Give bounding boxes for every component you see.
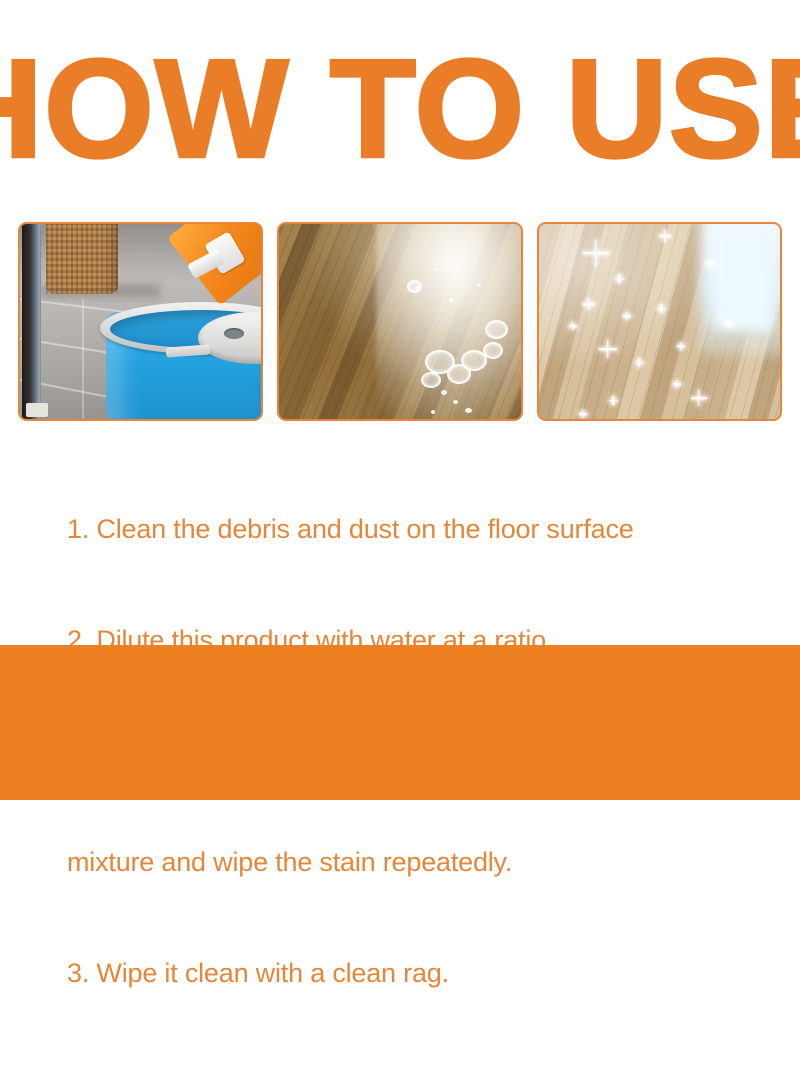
instruction-line-1: 1. Clean the debris and dust on the floo… [67,511,767,548]
spinner-drain-hole [224,328,244,339]
sparkle-icon [615,274,624,283]
sparkle-icon [691,390,707,406]
gallery-panel-1[interactable] [18,222,263,421]
tile-grout-line [82,298,84,419]
gallery-panel-2[interactable] [277,222,522,421]
sparkle-icon [623,312,631,320]
sparkle-icon [579,410,587,418]
footer-bar [0,645,800,800]
sparkle-icon [677,342,685,350]
gallery-panel-3[interactable] [537,222,782,421]
sparkle-icon [657,304,666,313]
page-title: HOW TO USE [0,44,800,174]
door-frame-foot [26,403,48,417]
door-frame [32,224,41,419]
photo-gallery [18,222,782,421]
sparkle-icon [659,230,671,242]
wicker-basket [46,224,118,294]
sparkle-icon [725,320,733,328]
sparkle-icon [583,240,609,266]
instruction-line-4: mixture and wipe the stain repeatedly. [67,844,767,881]
poster-root: HOW TO USE [0,0,800,800]
sparkle-icon [569,322,577,330]
sparkle-icon [635,358,644,367]
window-light-core [714,226,772,330]
sparkle-icon [705,258,715,268]
sparkle-icon [599,340,617,358]
panel-2-image [279,224,520,419]
sparkle-icon [609,396,618,405]
panel-1-image [20,224,261,419]
sparkle-icon [583,298,595,310]
panel-3-image [539,224,780,419]
sparkle-icon [673,380,681,388]
instruction-line-5: 3. Wipe it clean with a clean rag. [67,955,767,992]
page-title-text: HOW TO USE [0,39,800,179]
